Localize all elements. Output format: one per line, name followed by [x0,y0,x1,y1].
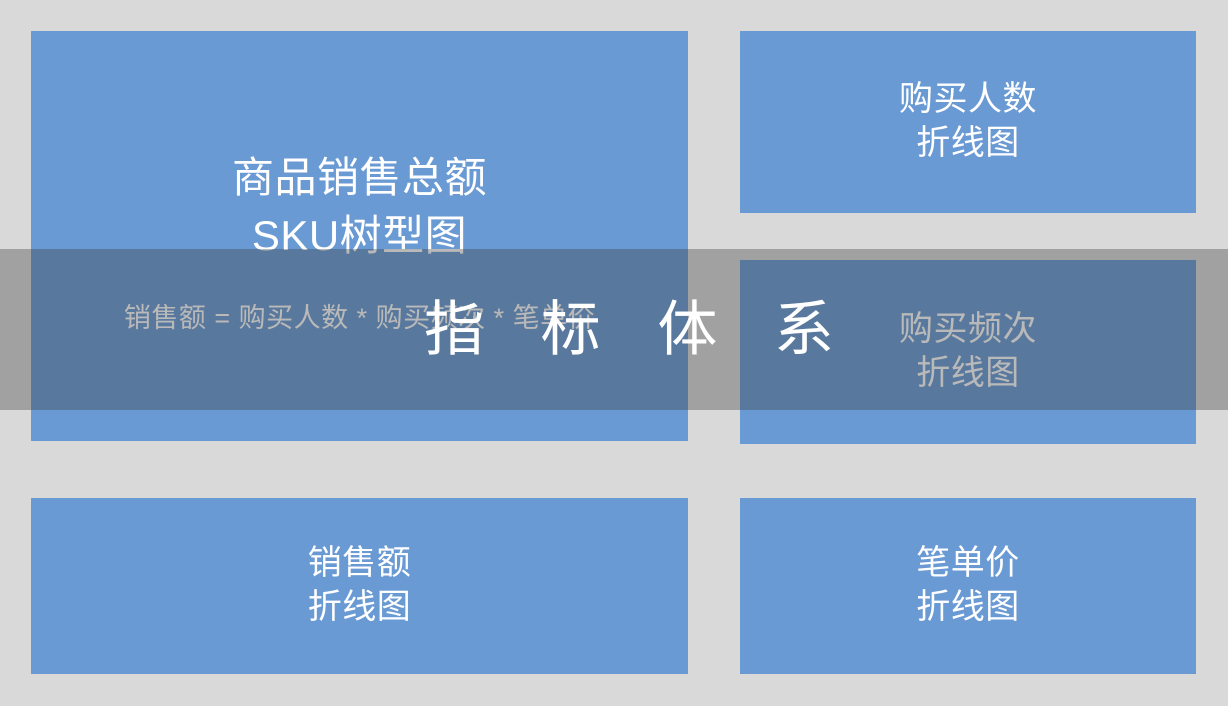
card-sales-amount-title: 销售额 折线图 [308,542,412,629]
card-frequency-title: 购买频次 折线图 [899,308,1037,395]
card-buyers-title: 购买人数 折线图 [899,78,1037,165]
card-sales-amount[interactable]: 销售额 折线图 [31,498,688,674]
card-frequency[interactable]: 购买频次 折线图 [740,260,1196,444]
card-sales-total-title: 商品销售总额 SKU树型图 [232,149,487,265]
slide-canvas: 商品销售总额 SKU树型图 销售额 = 购买人数 * 购买频次 * 笔单价 购买… [0,0,1228,706]
card-sales-total-formula: 销售额 = 购买人数 * 购买频次 * 笔单价 [124,301,595,336]
card-buyers[interactable]: 购买人数 折线图 [740,31,1196,213]
card-unit-price-title: 笔单价 折线图 [916,542,1020,629]
card-unit-price[interactable]: 笔单价 折线图 [740,498,1196,674]
card-sales-total[interactable]: 商品销售总额 SKU树型图 销售额 = 购买人数 * 购买频次 * 笔单价 [31,31,688,441]
